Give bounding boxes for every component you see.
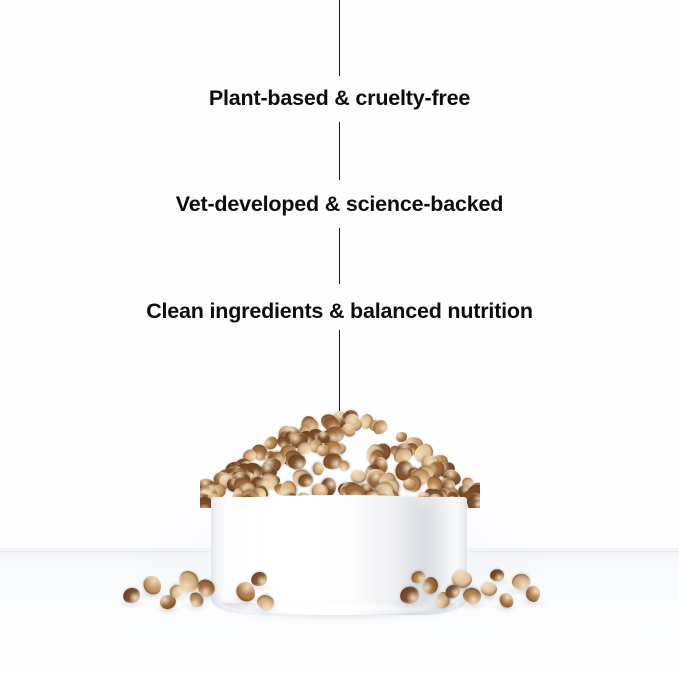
product-feature-image: Plant-based & cruelty-free Vet-developed… [0,0,679,679]
scattered-kibble [0,0,679,679]
kibble-piece-loose [490,569,504,581]
